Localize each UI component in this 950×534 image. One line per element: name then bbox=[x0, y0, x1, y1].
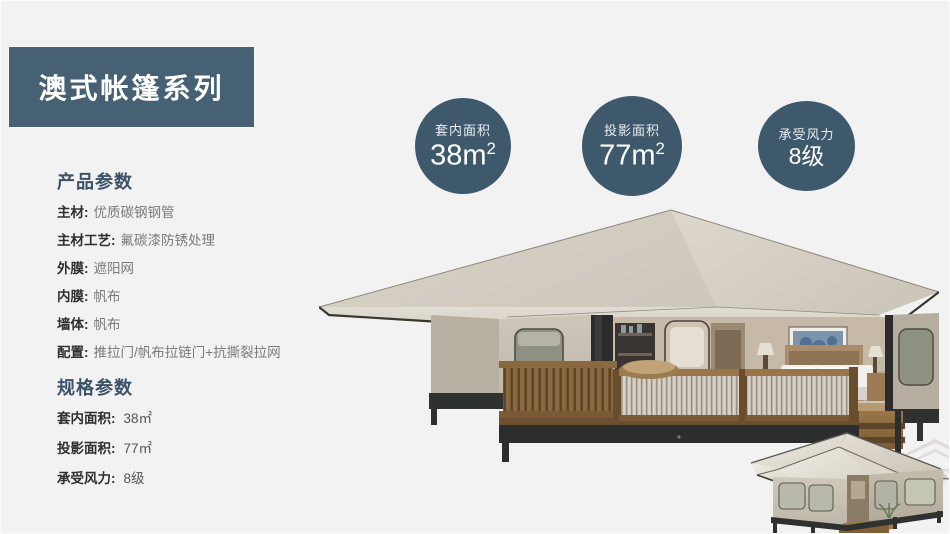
param-label: 主材工艺: bbox=[57, 229, 116, 249]
param-value: 推拉门/帆布拉链门+抗撕裂拉网 bbox=[94, 341, 281, 361]
param-label: 外膜: bbox=[57, 257, 89, 277]
stat-badge-wind-resistance: 承受风力 8级 bbox=[758, 101, 855, 191]
param-value: 氟碳漆防锈处理 bbox=[121, 229, 216, 249]
stat-label: 投影面积 bbox=[604, 120, 660, 139]
param-value: 帆布 bbox=[94, 313, 121, 333]
param-value: 8级 bbox=[124, 467, 145, 487]
stat-badge-indoor-area: 套内面积 38m2 bbox=[415, 98, 511, 194]
param-label: 墙体: bbox=[57, 313, 89, 333]
stat-label: 套内面积 bbox=[435, 120, 491, 139]
param-label: 套内面积: bbox=[57, 407, 116, 427]
param-value: 优质碳钢钢管 bbox=[94, 201, 175, 221]
title-banner: 澳式帐篷系列 bbox=[9, 47, 254, 127]
param-value: 77㎡ bbox=[124, 437, 153, 457]
param-label: 内膜: bbox=[57, 285, 89, 305]
specification-heading: 规格参数 bbox=[57, 374, 133, 400]
list-item: 主材: 优质碳钢钢管 bbox=[57, 201, 281, 221]
param-value: 38㎡ bbox=[124, 407, 153, 427]
list-item: 墙体: 帆布 bbox=[57, 313, 281, 333]
param-value: 遮阳网 bbox=[94, 257, 135, 277]
list-item: 承受风力: 8级 bbox=[57, 467, 152, 487]
list-item: 投影面积: 77㎡ bbox=[57, 437, 152, 457]
list-item: 内膜: 帆布 bbox=[57, 285, 281, 305]
stat-value: 77m2 bbox=[599, 140, 665, 171]
param-label: 承受风力: bbox=[57, 467, 116, 487]
stat-badge-projected-area: 投影面积 77m2 bbox=[582, 96, 682, 196]
page-title: 澳式帐篷系列 bbox=[38, 67, 224, 107]
stat-label: 承受风力 bbox=[778, 124, 834, 143]
param-label: 配置: bbox=[57, 341, 89, 361]
product-parameters-heading: 产品参数 bbox=[57, 168, 133, 194]
param-value: 帆布 bbox=[94, 285, 121, 305]
list-item: 主材工艺: 氟碳漆防锈处理 bbox=[57, 229, 281, 249]
product-parameters-list: 主材: 优质碳钢钢管 主材工艺: 氟碳漆防锈处理 外膜: 遮阳网 内膜: 帆布 … bbox=[57, 201, 281, 369]
specification-list: 套内面积: 38㎡ 投影面积: 77㎡ 承受风力: 8级 bbox=[57, 407, 152, 497]
stat-value: 38m2 bbox=[430, 140, 496, 171]
list-item: 外膜: 遮阳网 bbox=[57, 257, 281, 277]
param-label: 主材: bbox=[57, 201, 89, 221]
slide-root: 澳式帐篷系列 产品参数 主材: 优质碳钢钢管 主材工艺: 氟碳漆防锈处理 外膜:… bbox=[0, 0, 950, 534]
list-item: 套内面积: 38㎡ bbox=[57, 407, 152, 427]
list-item: 配置: 推拉门/帆布拉链门+抗撕裂拉网 bbox=[57, 341, 281, 361]
stat-value: 8级 bbox=[789, 144, 825, 168]
param-label: 投影面积: bbox=[57, 437, 116, 457]
tent-inset-image bbox=[743, 413, 950, 534]
